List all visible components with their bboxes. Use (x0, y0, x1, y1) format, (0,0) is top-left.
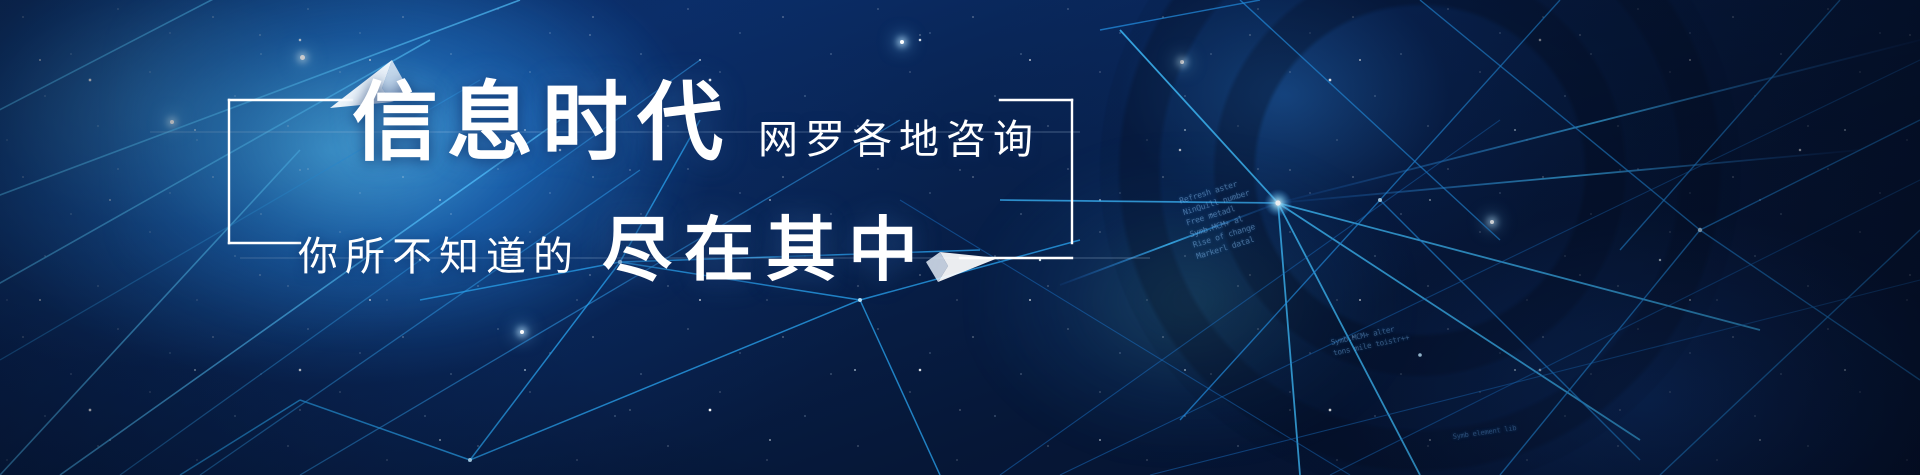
headline-sub-title: 网罗各地咨询 (758, 120, 1040, 166)
headline-line-1: 信息时代 网罗各地咨询 (352, 80, 1040, 166)
headline-main-title-2: 尽在其中 (602, 215, 930, 285)
arrow-down-right-icon (926, 252, 998, 282)
promotional-banner: Refresh aster NinQuill number Free metad… (0, 0, 1920, 475)
headline-frame-and-arrows (0, 0, 1920, 475)
headline-line-2: 你所不知道的 尽在其中 (298, 215, 930, 285)
headline-lead-title: 你所不知道的 (298, 237, 580, 285)
headline-main-title: 信息时代 (352, 80, 732, 166)
